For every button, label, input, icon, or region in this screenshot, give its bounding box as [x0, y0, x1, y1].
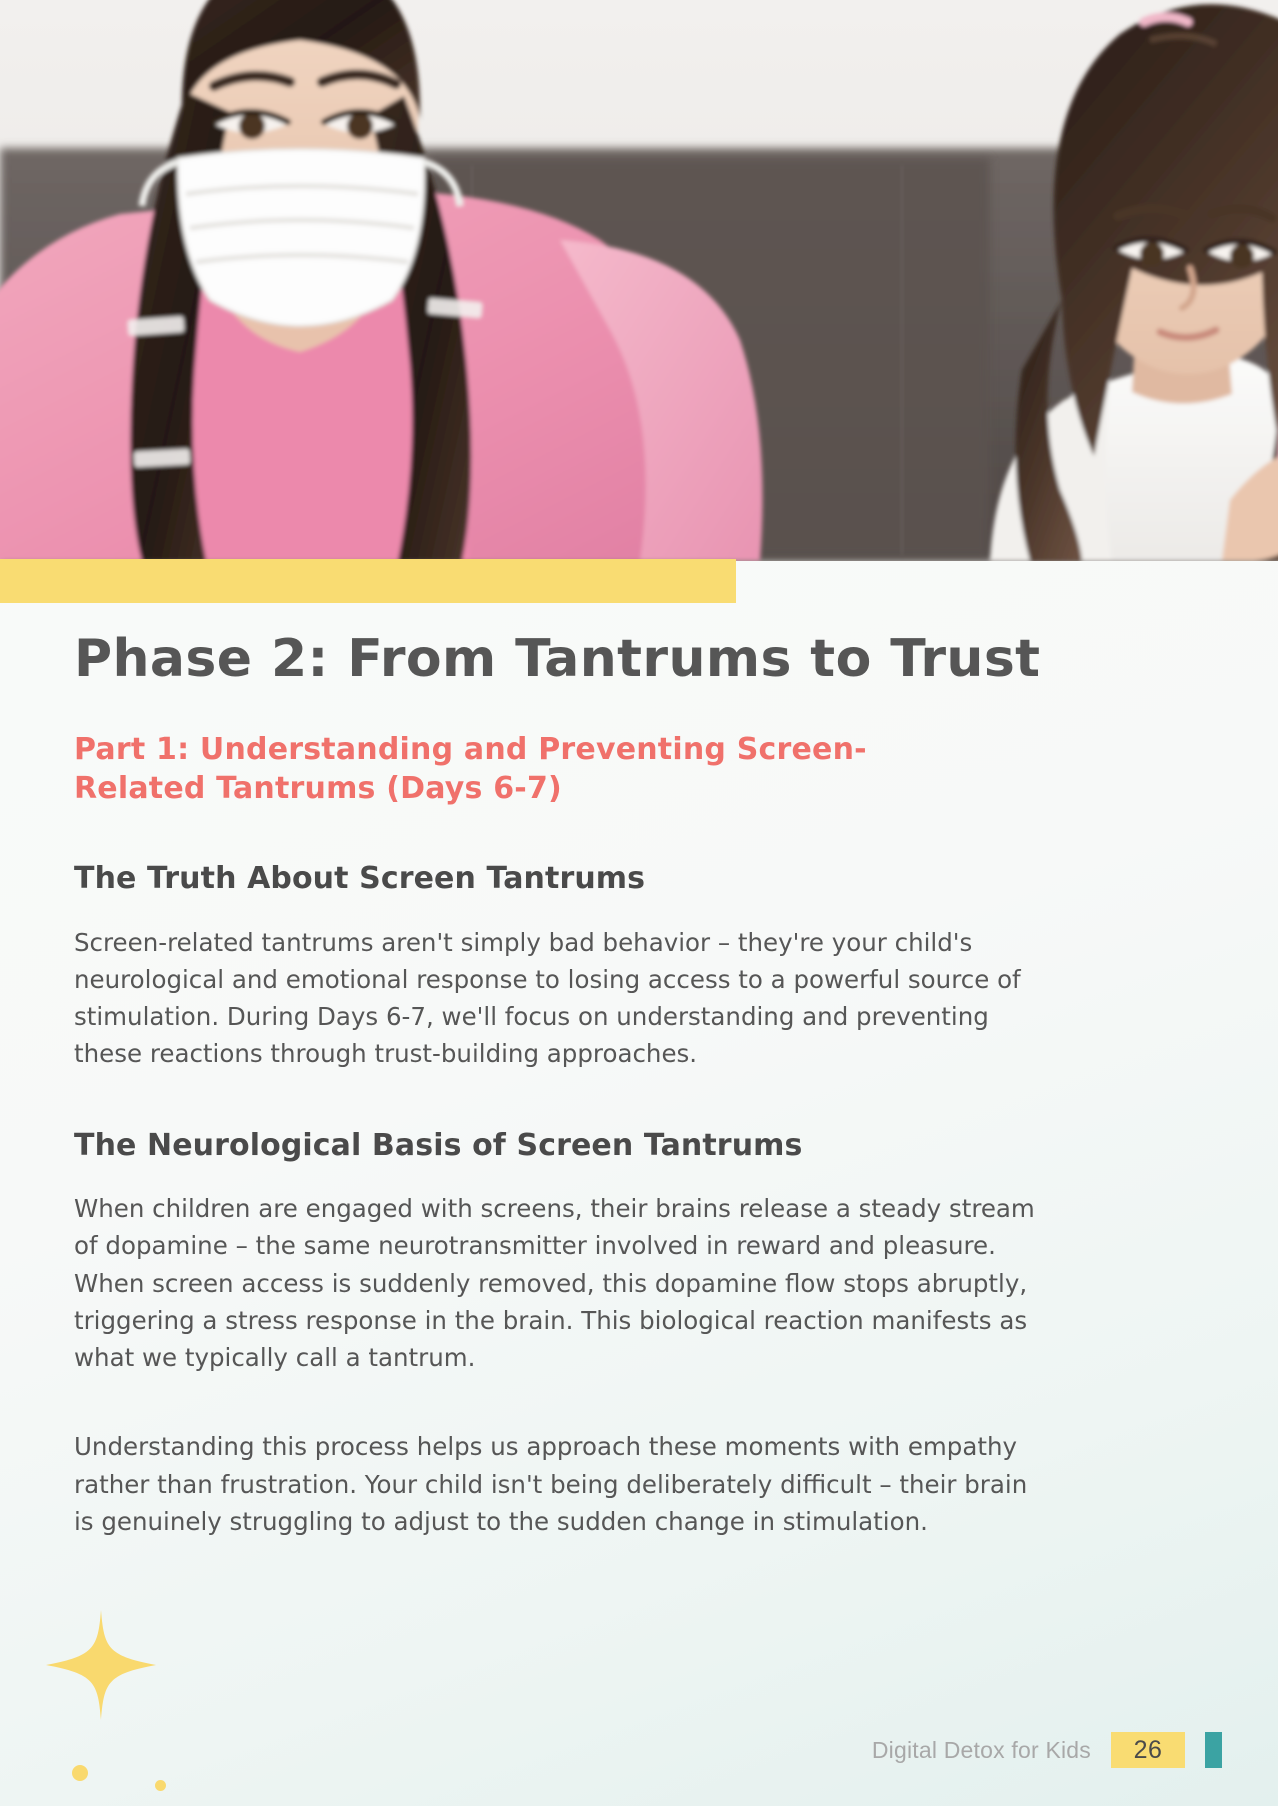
page-footer: Digital Detox for Kids 26 — [872, 1732, 1222, 1768]
paragraph-spacer — [74, 1394, 1174, 1428]
section-heading-truth: The Truth About Screen Tantrums — [74, 860, 1174, 898]
yellow-accent-bar — [0, 559, 736, 603]
part-subtitle: Part 1: Understanding and Preventing Scr… — [74, 730, 994, 808]
hero-photo-illustration — [0, 0, 1278, 561]
page-title: Phase 2: From Tantrums to Trust — [74, 630, 1174, 688]
decorative-dot-small — [155, 1780, 166, 1791]
page-number-badge: 26 — [1111, 1732, 1185, 1768]
section-paragraph-dopamine: When children are engaged with screens, … — [74, 1190, 1039, 1376]
page-content: Phase 2: From Tantrums to Trust Part 1: … — [74, 630, 1174, 1586]
section-heading-neurological: The Neurological Basis of Screen Tantrum… — [74, 1127, 1174, 1165]
decorative-dot-large — [72, 1765, 88, 1781]
document-page: Phase 2: From Tantrums to Trust Part 1: … — [0, 0, 1278, 1806]
page-tab-marker — [1205, 1732, 1222, 1768]
hero-photo — [0, 0, 1278, 561]
section-paragraph-truth: Screen-related tantrums aren't simply ba… — [74, 924, 1039, 1073]
section-paragraph-empathy: Understanding this process helps us appr… — [74, 1428, 1039, 1540]
footer-brand-label: Digital Detox for Kids — [872, 1737, 1091, 1764]
sparkle-icon — [46, 1610, 156, 1720]
